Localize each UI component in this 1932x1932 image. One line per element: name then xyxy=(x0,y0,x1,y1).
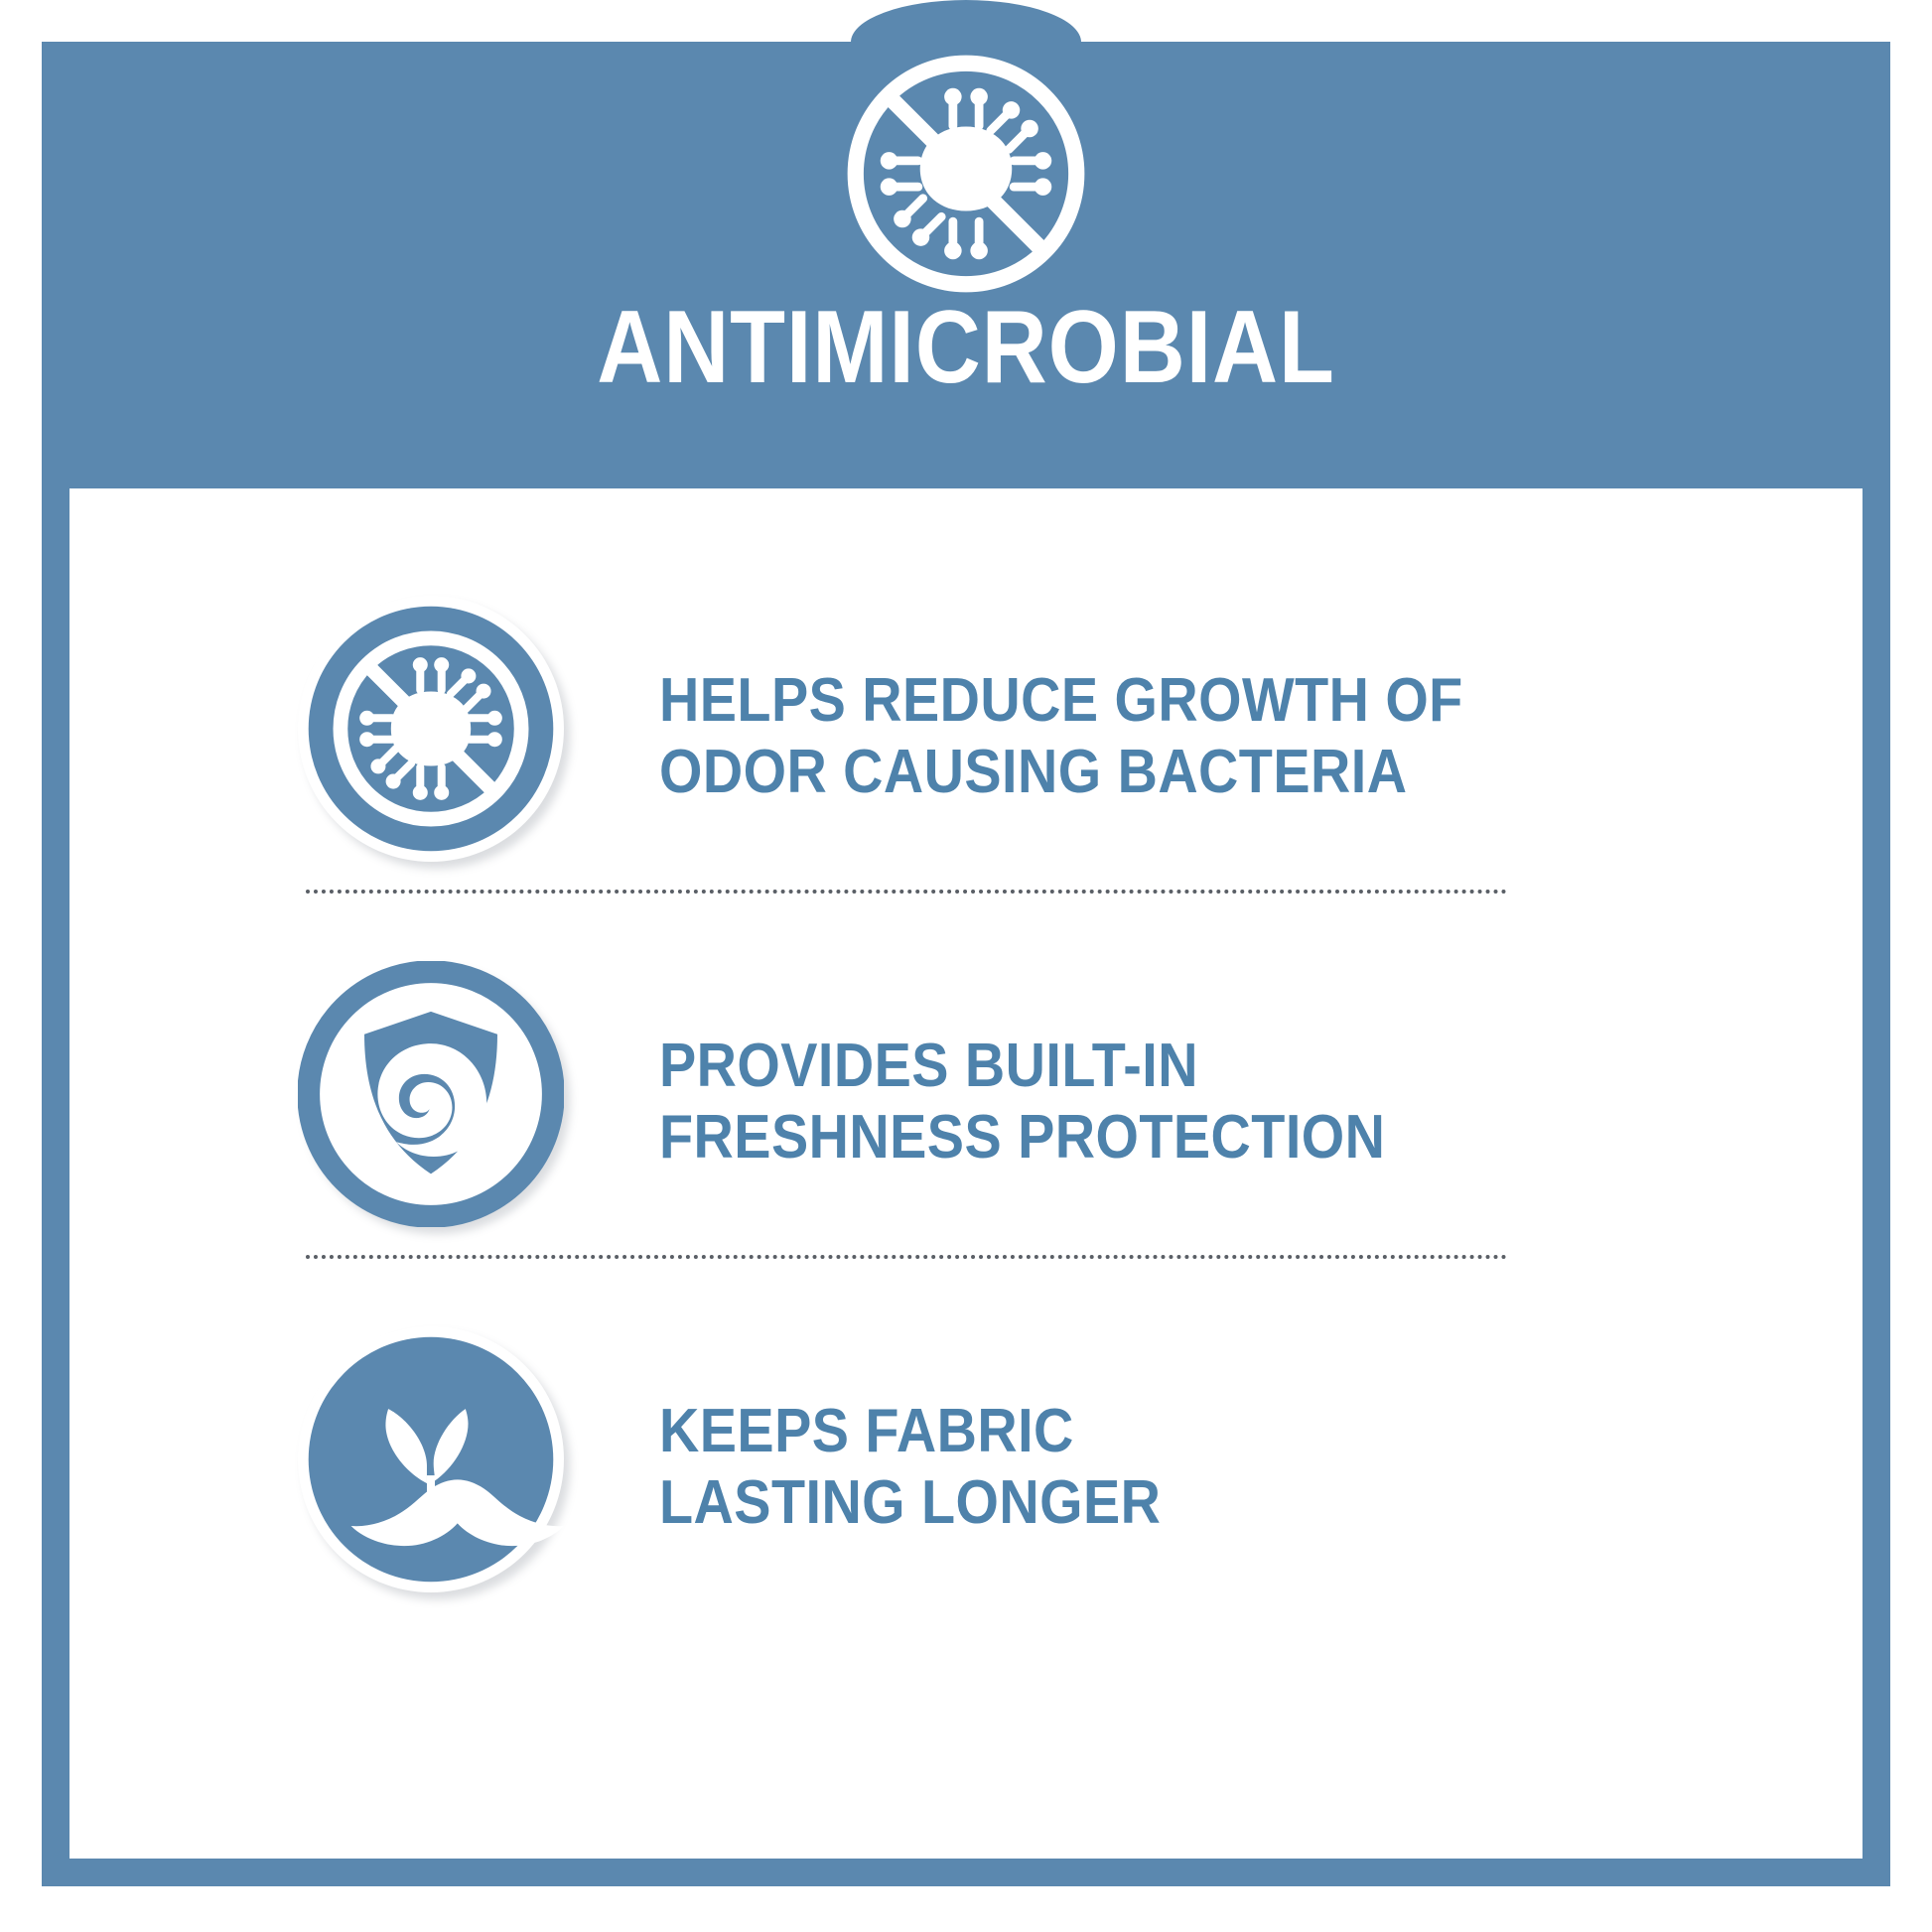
header-band: ANTIMICROBIAL xyxy=(42,42,1890,488)
no-germ-icon xyxy=(298,596,564,862)
feature-label: PROVIDES BUILT-IN FRESHNESS PROTECTION xyxy=(659,1031,1385,1173)
feature-label: HELPS REDUCE GROWTH OF ODOR CAUSING BACT… xyxy=(659,665,1463,808)
features-panel: HELPS REDUCE GROWTH OF ODOR CAUSING BACT… xyxy=(69,488,1863,1859)
feature-label-line2: FRESHNESS PROTECTION xyxy=(659,1102,1385,1173)
dotted-divider xyxy=(306,890,1507,894)
no-germ-icon xyxy=(842,50,1090,298)
page-title: ANTIMICROBIAL xyxy=(153,296,1780,399)
header-notch-shape xyxy=(851,0,1081,44)
feature-label-line1: HELPS REDUCE GROWTH OF xyxy=(659,666,1463,735)
feature-icon-wrap xyxy=(290,1318,588,1616)
dotted-divider xyxy=(306,1255,1507,1259)
feature-row: KEEPS FABRIC LASTING LONGER xyxy=(69,1318,1863,1616)
feature-label-line1: PROVIDES BUILT-IN xyxy=(659,1032,1198,1100)
feature-label: KEEPS FABRIC LASTING LONGER xyxy=(659,1396,1161,1539)
feature-row: HELPS REDUCE GROWTH OF ODOR CAUSING BACT… xyxy=(69,588,1863,886)
shield-spiral-icon xyxy=(298,961,564,1227)
feature-label-line2: LASTING LONGER xyxy=(659,1467,1161,1539)
leaf-sprout-icon xyxy=(298,1326,564,1592)
feature-icon-wrap xyxy=(290,588,588,886)
feature-icon-wrap xyxy=(290,953,588,1251)
feature-label-line1: KEEPS FABRIC xyxy=(659,1397,1074,1465)
feature-row: PROVIDES BUILT-IN FRESHNESS PROTECTION xyxy=(69,953,1863,1251)
feature-label-line2: ODOR CAUSING BACTERIA xyxy=(659,737,1463,808)
antimicrobial-infographic: ANTIMICROBIAL xyxy=(0,0,1932,1932)
